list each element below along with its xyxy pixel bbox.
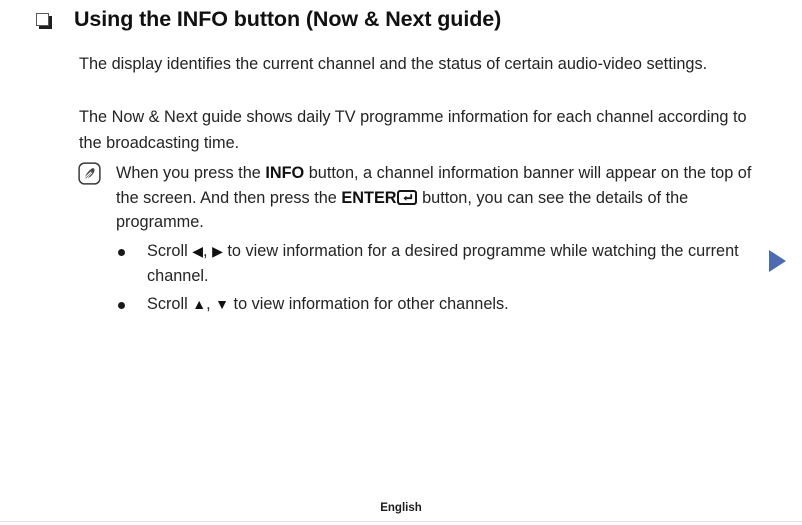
manual-page: Using the INFO button (Now & Next guide)… xyxy=(0,0,802,525)
note-text: When you press the INFO button, a channe… xyxy=(116,161,768,235)
note-text-segment-1: When you press the xyxy=(116,164,265,182)
note-bold-enter: ENTER xyxy=(341,189,396,207)
footer-language-label: English xyxy=(0,502,802,514)
body-paragraph-2: The Now & Next guide shows daily TV prog… xyxy=(79,104,749,156)
section-heading: Using the INFO button (Now & Next guide) xyxy=(36,6,762,33)
right-arrow-icon: ▶ xyxy=(212,244,223,258)
down-arrow-icon: ▼ xyxy=(215,297,229,311)
bullet-dot-icon xyxy=(118,249,125,256)
bullet-2-segment-1: Scroll xyxy=(147,295,192,313)
note-bold-info: INFO xyxy=(265,164,304,182)
list-item-text: Scroll ◀, ▶ to view information for a de… xyxy=(147,239,768,289)
bullet-dot-icon xyxy=(118,302,125,309)
enter-return-key-icon xyxy=(397,188,417,203)
square-bullet-icon xyxy=(36,13,53,30)
list-item: Scroll ◀, ▶ to view information for a de… xyxy=(118,239,768,289)
list-item-text: Scroll ▲, ▼ to view information for othe… xyxy=(147,292,509,317)
body-paragraph-1: The display identifies the current chann… xyxy=(79,51,749,77)
page-title: Using the INFO button (Now & Next guide) xyxy=(74,6,501,33)
footer-divider xyxy=(0,521,802,522)
note-pen-icon xyxy=(78,162,101,185)
bullet-1-segment-1: Scroll xyxy=(147,242,192,260)
note-block: When you press the INFO button, a channe… xyxy=(78,161,768,235)
left-arrow-icon: ◀ xyxy=(192,244,203,258)
next-page-arrow-icon[interactable] xyxy=(769,250,786,272)
list-item: Scroll ▲, ▼ to view information for othe… xyxy=(118,292,768,317)
up-arrow-icon: ▲ xyxy=(192,297,206,311)
bullet-1-segment-2: to view information for a desired progra… xyxy=(147,242,739,285)
bullet-2-separator: , xyxy=(206,295,215,313)
bullet-list: Scroll ◀, ▶ to view information for a de… xyxy=(118,239,768,320)
bullet-2-segment-2: to view information for other channels. xyxy=(229,295,509,313)
bullet-1-separator: , xyxy=(203,242,212,260)
